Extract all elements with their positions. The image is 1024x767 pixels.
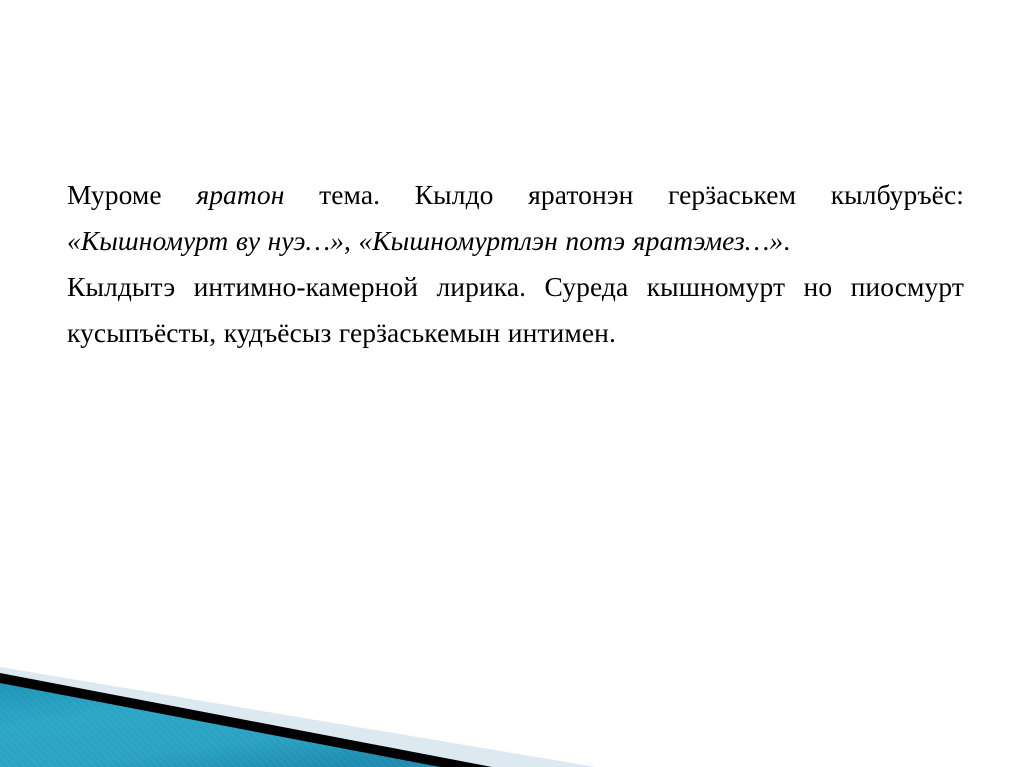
bottom-left-diagonal-banner-decoration (0, 607, 1024, 767)
paragraph-1: Муроме яратон тема. Кылдо яратонэн герӟа… (67, 172, 964, 264)
teal-triangle (0, 683, 440, 767)
run-regular-4: . (783, 225, 790, 256)
slide-canvas: Муроме яратон тема. Кылдо яратонэн герӟа… (0, 0, 1024, 767)
pale-blue-stripe (0, 667, 596, 767)
run-regular-1: Муроме (67, 179, 196, 210)
slide-body-text: Муроме яратон тема. Кылдо яратонэн герӟа… (67, 172, 964, 356)
paragraph-2: Кылдытэ интимно-камерной лирика. Суреда … (67, 264, 964, 356)
run-italic-poem-title-2: «Кышномуртлэн потэ яратэмез…» (358, 225, 783, 256)
teal-triangle-texture (0, 683, 440, 767)
black-stripe (0, 673, 492, 767)
run-regular-5: Кылдытэ интимно-камерной лирика. Суреда … (67, 271, 964, 348)
run-regular-3: , (344, 225, 358, 256)
run-italic-yaraton: яратон (196, 179, 284, 210)
run-italic-poem-title-1: «Кышномурт ву нуэ…» (67, 225, 344, 256)
run-regular-2: тема. Кылдо яратонэн герӟаськем кылбуръё… (284, 179, 964, 210)
